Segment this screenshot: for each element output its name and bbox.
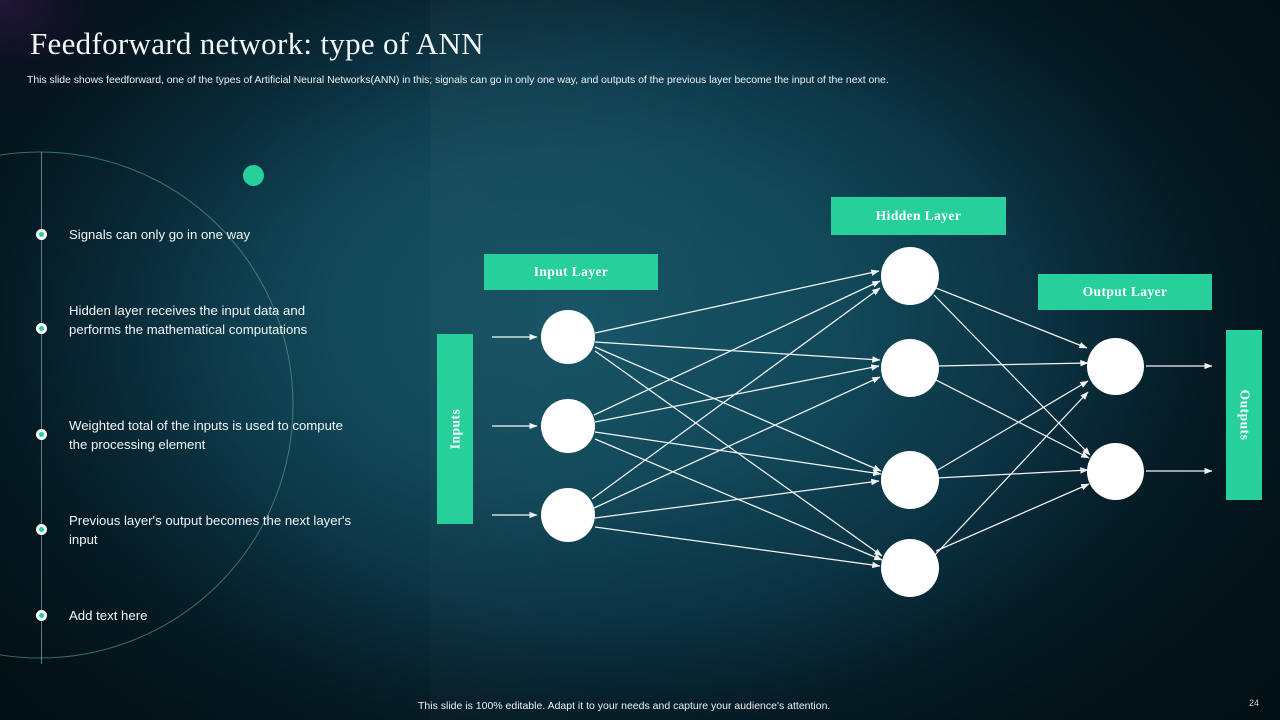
hidden-node-1 [881, 247, 939, 305]
input-node-3 [541, 488, 595, 542]
output-node-2 [1087, 443, 1144, 500]
inputs-bar: Inputs [437, 334, 473, 524]
page-number: 24 [1249, 698, 1259, 708]
input-node-1 [541, 310, 595, 364]
input-node-2 [541, 399, 595, 453]
slide-canvas: Feedforward network: type of ANN This sl… [0, 0, 1280, 720]
outputs-bar: Outputs [1226, 330, 1262, 500]
hidden-node-3 [881, 451, 939, 509]
hidden-node-2 [881, 339, 939, 397]
input-layer-label: Input Layer [484, 254, 658, 290]
hidden-node-4 [881, 539, 939, 597]
output-node-1 [1087, 338, 1144, 395]
inputs-bar-label: Inputs [447, 409, 463, 450]
hidden-layer-label: Hidden Layer [831, 197, 1006, 235]
footer-note: This slide is 100% editable. Adapt it to… [418, 700, 830, 712]
output-layer-label: Output Layer [1038, 274, 1212, 310]
outputs-bar-label: Outputs [1236, 390, 1252, 441]
